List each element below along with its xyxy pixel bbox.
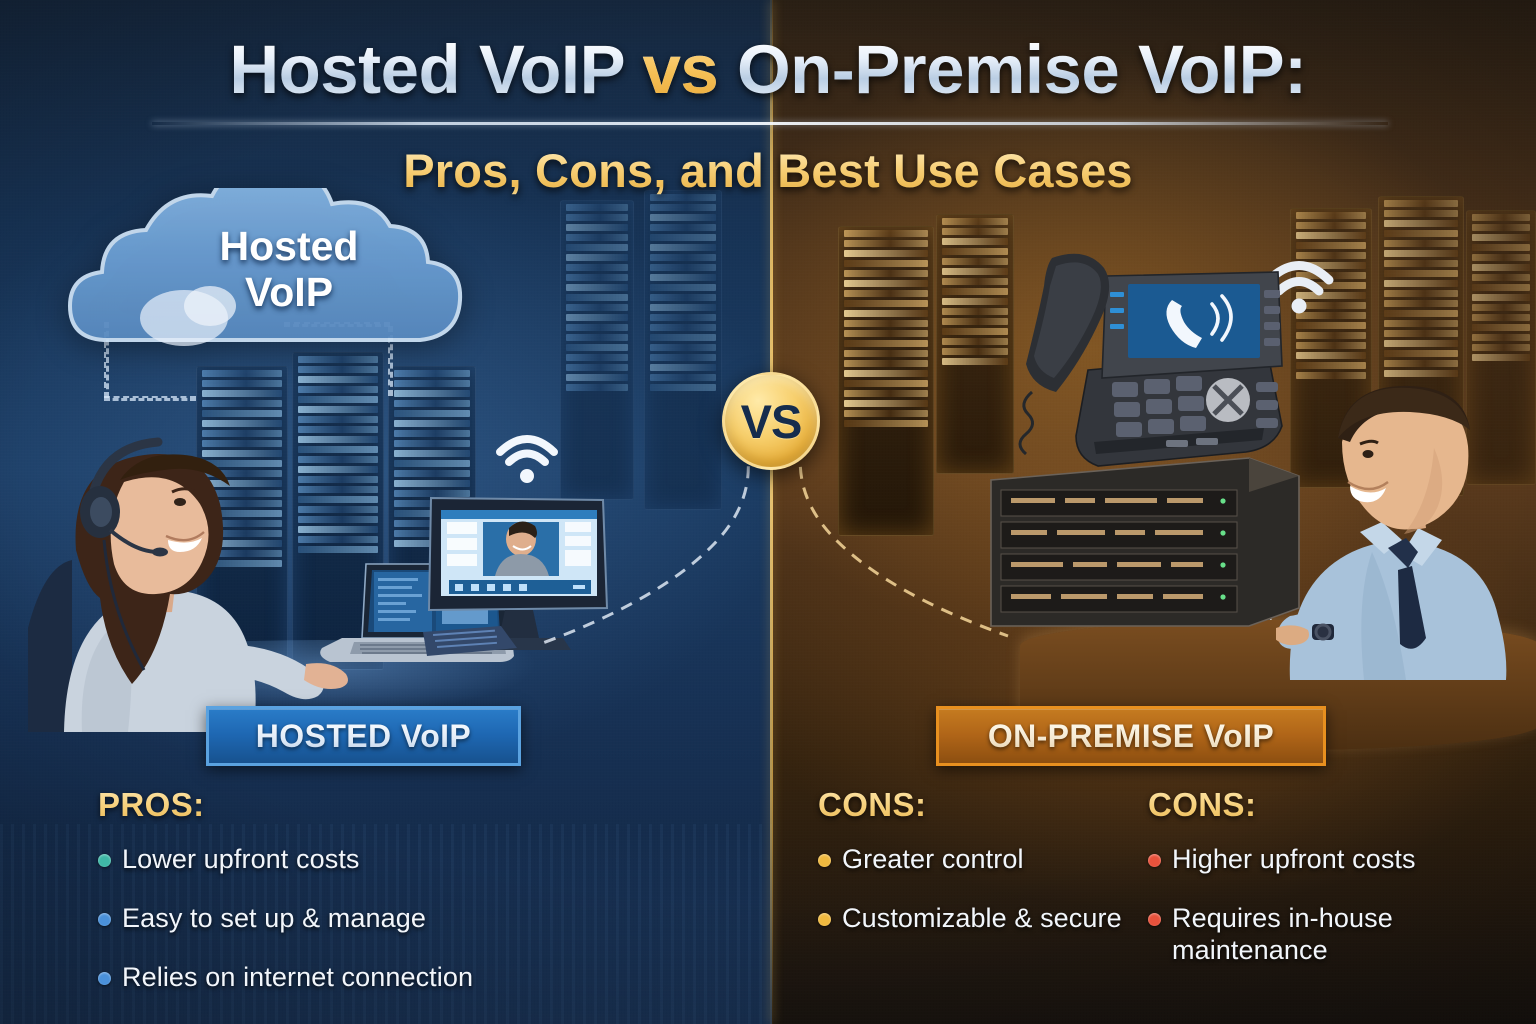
bullet-dot bbox=[818, 913, 831, 926]
wifi-icon-left bbox=[494, 428, 560, 486]
bullet-dot bbox=[98, 972, 111, 985]
cons-2-list: Higher upfront costs Requires in-house m… bbox=[1148, 844, 1488, 967]
bullet-dot bbox=[1148, 913, 1161, 926]
voip-desk-phone bbox=[990, 250, 1290, 480]
list-item-label: Relies on internet connection bbox=[122, 962, 473, 994]
list-item-label: Easy to set up & manage bbox=[122, 903, 426, 935]
cloud-label: Hosted VoIP bbox=[64, 224, 514, 316]
list-item: Higher upfront costs bbox=[1148, 844, 1488, 876]
list-item-label: Customizable & secure bbox=[842, 903, 1122, 935]
bullet-dot bbox=[818, 854, 831, 867]
title-divider-rule bbox=[152, 122, 1388, 125]
list-item-label: Higher upfront costs bbox=[1172, 844, 1416, 876]
cloud-label-line2: VoIP bbox=[64, 270, 514, 316]
pros-list: Lower upfront costs Easy to set up & man… bbox=[98, 844, 658, 994]
list-item: Easy to set up & manage bbox=[98, 903, 658, 935]
cons-column-2: CONS: Higher upfront costs Requires in-h… bbox=[1148, 786, 1488, 994]
list-item: Customizable & secure bbox=[818, 903, 1148, 935]
bullet-dot bbox=[98, 913, 111, 926]
page-subtitle: Pros, Cons, and Best Use Cases bbox=[0, 143, 1536, 198]
cons-1-heading: CONS: bbox=[818, 786, 1148, 824]
on-premise-voip-badge: ON-PREMISE VoIP bbox=[936, 706, 1326, 766]
vs-badge-label: VS bbox=[741, 394, 802, 449]
bullet-dot bbox=[1148, 854, 1161, 867]
list-item-label: Lower upfront costs bbox=[122, 844, 360, 876]
list-item-label: Greater control bbox=[842, 844, 1024, 876]
bullet-dot bbox=[98, 854, 111, 867]
call-center-agent-illustration bbox=[28, 432, 358, 732]
hosted-voip-badge: HOSTED VoIP bbox=[206, 706, 521, 766]
pros-column: PROS: Lower upfront costs Easy to set up… bbox=[98, 786, 658, 1021]
cons-1-list: Greater control Customizable & secure bbox=[818, 844, 1148, 935]
businessman-illustration bbox=[1276, 380, 1536, 680]
cons-column-1: CONS: Greater control Customizable & sec… bbox=[818, 786, 1148, 962]
hosted-voip-badge-label: HOSTED VoIP bbox=[256, 718, 471, 755]
page-title: Hosted VoIP vs On-Premise VoIP: bbox=[0, 34, 1536, 106]
pros-heading: PROS: bbox=[98, 786, 658, 824]
list-item-label: Requires in-house maintenance bbox=[1172, 903, 1488, 967]
title-vs-word: vs bbox=[643, 31, 719, 108]
cloud-label-line1: Hosted bbox=[64, 224, 514, 270]
infographic-canvas: Hosted VoIP bbox=[0, 0, 1536, 1024]
list-item: Requires in-house maintenance bbox=[1148, 903, 1488, 967]
list-item: Greater control bbox=[818, 844, 1148, 876]
title-part-1: Hosted VoIP bbox=[229, 31, 642, 108]
hosted-voip-cloud: Hosted VoIP bbox=[64, 188, 514, 368]
on-premise-voip-badge-label: ON-PREMISE VoIP bbox=[988, 718, 1274, 755]
cons-2-heading: CONS: bbox=[1148, 786, 1488, 824]
list-item: Relies on internet connection bbox=[98, 962, 658, 994]
vs-badge: VS bbox=[722, 372, 820, 470]
list-item: Lower upfront costs bbox=[98, 844, 658, 876]
cloud-connector-left-horizontal bbox=[104, 396, 196, 401]
title-part-2: On-Premise VoIP: bbox=[718, 31, 1306, 108]
